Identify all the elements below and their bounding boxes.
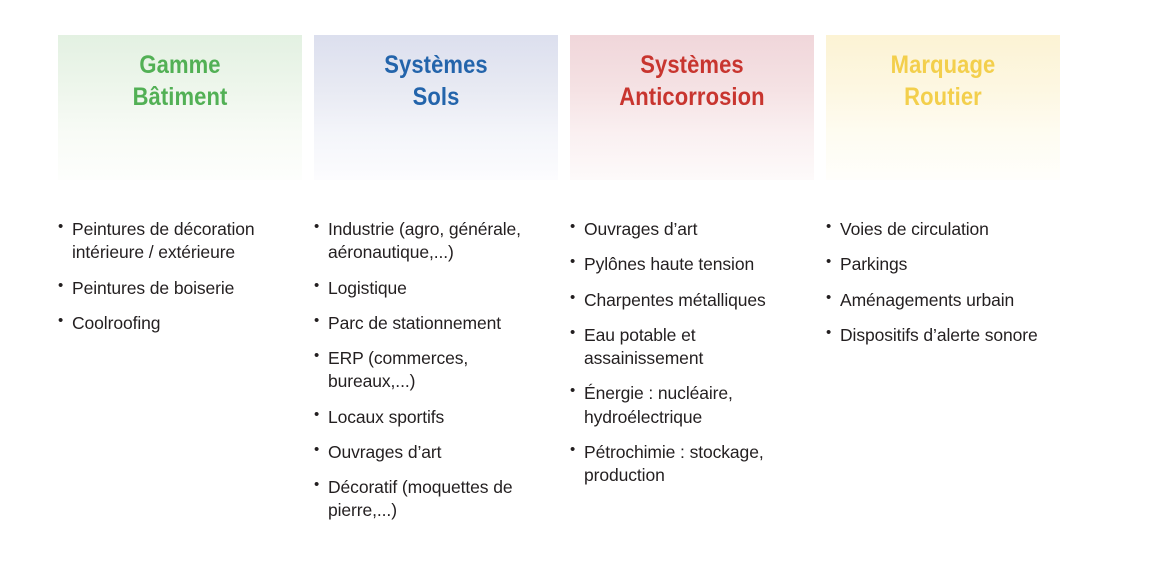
bullet-list-systemes-sols: Industrie (agro, générale, aéronautique,… bbox=[314, 180, 558, 535]
list-item: Peintures de boiserie bbox=[58, 277, 302, 300]
panel-header-gamme-batiment: Gamme Bâtiment bbox=[58, 35, 302, 180]
list-item: Pétrochimie : stockage, production bbox=[570, 441, 814, 488]
list-item: Voies de circulation bbox=[826, 218, 1060, 241]
panel-header-systemes-anticorrosion: Systèmes Anticorrosion bbox=[570, 35, 814, 180]
list-item: Pylônes haute tension bbox=[570, 253, 814, 276]
list-item: Parc de stationnement bbox=[314, 312, 558, 335]
list-item: Locaux sportifs bbox=[314, 406, 558, 429]
column-gamme-batiment: Gamme Bâtiment Peintures de décoration i… bbox=[58, 35, 302, 535]
column-systemes-anticorrosion: Systèmes Anticorrosion Ouvrages d’art Py… bbox=[570, 35, 814, 535]
panel-title-gamme-batiment: Gamme Bâtiment bbox=[73, 49, 288, 113]
list-item: Énergie : nucléaire, hydroélectrique bbox=[570, 382, 814, 429]
column-marquage-routier: Marquage Routier Voies de circulation Pa… bbox=[826, 35, 1060, 535]
list-item: Parkings bbox=[826, 253, 1060, 276]
list-item: Industrie (agro, générale, aéronautique,… bbox=[314, 218, 558, 265]
list-item: Eau potable et assainissement bbox=[570, 324, 814, 371]
list-item: Ouvrages d’art bbox=[570, 218, 814, 241]
panel-header-systemes-sols: Systèmes Sols bbox=[314, 35, 558, 180]
bullet-list-systemes-anticorrosion: Ouvrages d’art Pylônes haute tension Cha… bbox=[570, 180, 814, 499]
list-item: Ouvrages d’art bbox=[314, 441, 558, 464]
list-item: ERP (commerces, bureaux,...) bbox=[314, 347, 558, 394]
list-item: Aménagements urbain bbox=[826, 289, 1060, 312]
list-item: Coolroofing bbox=[58, 312, 302, 335]
panel-header-marquage-routier: Marquage Routier bbox=[826, 35, 1060, 180]
bullet-list-marquage-routier: Voies de circulation Parkings Aménagemen… bbox=[826, 180, 1060, 359]
list-item: Décoratif (moquettes de pierre,...) bbox=[314, 476, 558, 523]
columns-container: Gamme Bâtiment Peintures de décoration i… bbox=[58, 35, 1060, 535]
column-systemes-sols: Systèmes Sols Industrie (agro, générale,… bbox=[314, 35, 558, 535]
list-item: Charpentes métalliques bbox=[570, 289, 814, 312]
list-item: Logistique bbox=[314, 277, 558, 300]
list-item: Dispositifs d’alerte sonore bbox=[826, 324, 1060, 347]
product-ranges-board: Gamme Bâtiment Peintures de décoration i… bbox=[0, 0, 1154, 564]
panel-title-systemes-anticorrosion: Systèmes Anticorrosion bbox=[585, 49, 800, 113]
panel-title-marquage-routier: Marquage Routier bbox=[840, 49, 1046, 113]
bullet-list-gamme-batiment: Peintures de décoration intérieure / ext… bbox=[58, 180, 302, 347]
panel-title-systemes-sols: Systèmes Sols bbox=[329, 49, 544, 113]
list-item: Peintures de décoration intérieure / ext… bbox=[58, 218, 302, 265]
